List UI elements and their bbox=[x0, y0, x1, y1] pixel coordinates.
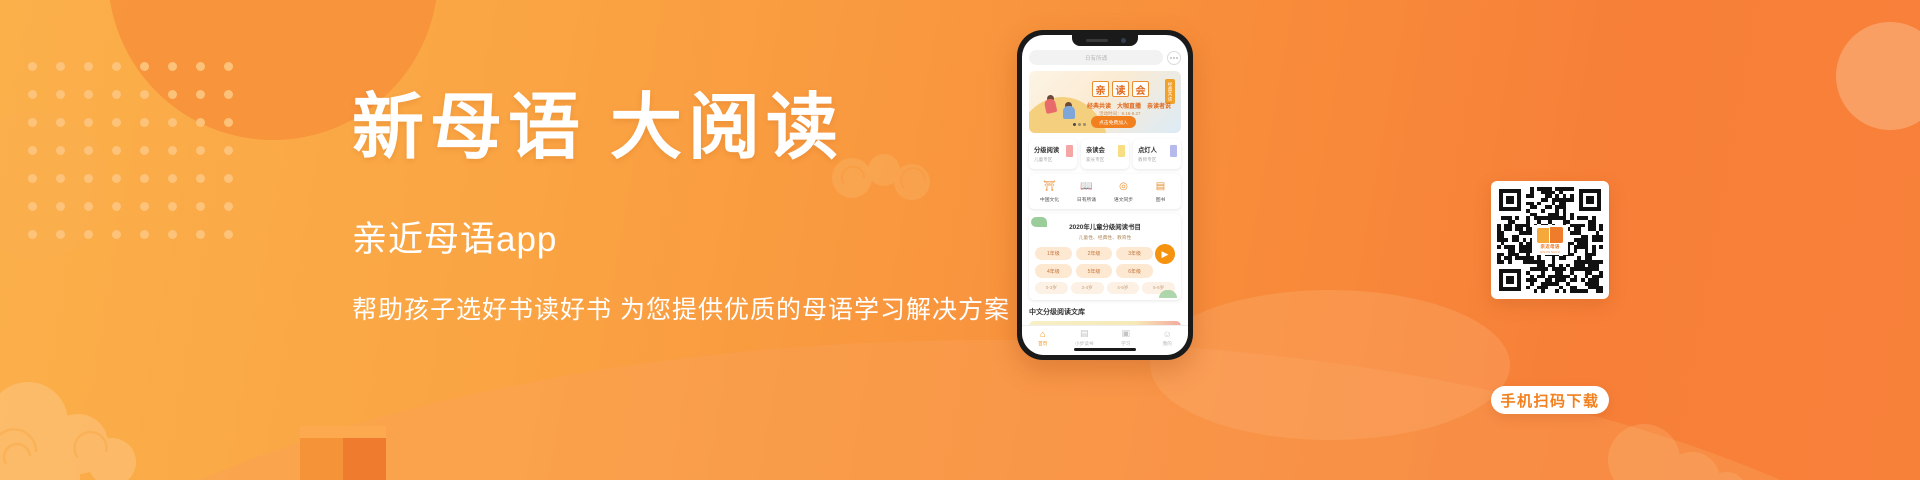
quick-icon-label: 中国文化 bbox=[1040, 196, 1059, 203]
leaf-decoration-icon bbox=[1159, 290, 1177, 298]
phone-quick-icons: ⛩ 中国文化 📖 日有所诵 ◎ 语文同步 ▤ 图书 bbox=[1029, 174, 1181, 209]
logo-title: 亲近母语 bbox=[1540, 244, 1559, 250]
grade-chip[interactable]: 3年级 bbox=[1116, 247, 1153, 260]
phone-search-row: 日有所诵 bbox=[1029, 50, 1181, 65]
qr-finder-bottom-left bbox=[1497, 267, 1523, 293]
phone-notch bbox=[1072, 35, 1138, 46]
category-sub: 教师专区 bbox=[1138, 157, 1176, 163]
promo-banner: 新母语 大阅读 亲近母语app 帮助孩子选好书读好书 为您提供优质的母语学习解决… bbox=[0, 0, 1920, 480]
hero-kid-2 bbox=[1063, 106, 1075, 119]
phone-search-input[interactable]: 日有所诵 bbox=[1029, 50, 1163, 65]
study-icon: ▣ bbox=[1121, 328, 1130, 339]
age-chip[interactable]: 0-3岁 bbox=[1035, 282, 1068, 294]
age-chip-list: 0-3岁 3-4岁 4-5岁 5-6岁 bbox=[1035, 282, 1175, 294]
more-dots-icon[interactable] bbox=[1167, 51, 1181, 65]
phone-category-cards: 分级阅读 儿童专区 亲读会 家长专区 点灯人 教师专区 bbox=[1029, 139, 1181, 169]
hero-cta-button[interactable]: 点击免费加入 bbox=[1091, 116, 1136, 128]
category-card[interactable]: 亲读会 家长专区 bbox=[1081, 139, 1129, 169]
tab-label: 学习 bbox=[1121, 341, 1130, 347]
home-icon: ⌂ bbox=[1040, 329, 1045, 339]
booklist-subtitle: 儿童性、经典性、教育性 bbox=[1035, 234, 1175, 241]
grade-chip[interactable]: 1年级 bbox=[1035, 247, 1072, 260]
cloud-icon-bottom-right bbox=[1600, 400, 1770, 480]
grade-chip-list: 1年级 2年级 3年级 4年级 5年级 6年级 bbox=[1035, 247, 1175, 278]
profile-icon: ☺ bbox=[1163, 329, 1172, 339]
bookmark-icon bbox=[1170, 145, 1177, 157]
quick-icon-label: 图书 bbox=[1156, 196, 1166, 203]
leaf-decoration-icon bbox=[1031, 217, 1047, 227]
book-logo-icon bbox=[1537, 227, 1563, 243]
booklist-title: 2020年儿童分级阅读书目 bbox=[1035, 222, 1175, 231]
decorative-circle-top-right bbox=[1836, 22, 1920, 130]
reading-icon: ▤ bbox=[1080, 328, 1089, 339]
phone-speaker bbox=[1086, 39, 1108, 42]
tab-home[interactable]: ⌂ 首页 bbox=[1022, 329, 1064, 347]
qr-finder-top-left bbox=[1497, 187, 1523, 213]
phone-mockup: 日有所诵 亲 读 会 经典共读 经典共读 bbox=[1017, 30, 1193, 360]
phone-camera-icon bbox=[1121, 38, 1126, 43]
qr-code-image: 亲近母语 QINJIN MUYU bbox=[1497, 187, 1603, 293]
hero-subtitle-item: 大咖直播 bbox=[1117, 101, 1141, 110]
recite-icon: 📖 bbox=[1080, 180, 1093, 193]
section-title: 中文分级阅读文库 bbox=[1029, 307, 1181, 317]
bookmark-icon bbox=[1118, 145, 1125, 157]
hero-title-char: 会 bbox=[1132, 81, 1149, 97]
phone-content: 日有所诵 亲 读 会 经典共读 经典共读 bbox=[1022, 35, 1188, 339]
tab-label: 小步读书 bbox=[1075, 341, 1093, 347]
phone-hero-banner[interactable]: 亲 读 会 经典共读 经典共读 大咖直播 亲读者说 活动时间：9.16-9.27… bbox=[1029, 71, 1181, 133]
grade-chip[interactable]: 4年级 bbox=[1035, 264, 1072, 277]
phone-home-indicator bbox=[1074, 348, 1136, 351]
quick-icon-sync[interactable]: ◎ 语文同步 bbox=[1105, 180, 1142, 203]
quick-icon-book[interactable]: ▤ 图书 bbox=[1142, 180, 1179, 203]
dot-grid-pattern bbox=[28, 62, 252, 258]
category-card[interactable]: 点灯人 教师专区 bbox=[1133, 139, 1181, 169]
tab-profile[interactable]: ☺ 我的 bbox=[1147, 329, 1189, 347]
carousel-dots[interactable] bbox=[1073, 123, 1086, 126]
quick-icon-label: 日有所诵 bbox=[1077, 196, 1096, 203]
logo-subtitle: QINJIN MUYU bbox=[1540, 251, 1560, 254]
video-play-icon[interactable]: ▶ bbox=[1155, 244, 1175, 264]
app-name: 亲近母语app bbox=[352, 211, 1072, 262]
grade-chip[interactable]: 5年级 bbox=[1076, 264, 1113, 277]
hero-title-char: 读 bbox=[1112, 81, 1129, 97]
decorative-circle-mid-left bbox=[0, 110, 110, 260]
hero-title-char: 亲 bbox=[1092, 81, 1109, 97]
category-sub: 儿童专区 bbox=[1034, 157, 1072, 163]
hero-subtitle: 经典共读 大咖直播 亲读者说 bbox=[1087, 101, 1171, 110]
age-chip[interactable]: 4-5岁 bbox=[1107, 282, 1140, 294]
tagline: 帮助孩子选好书读好书 为您提供优质的母语学习解决方案 bbox=[352, 290, 1072, 326]
category-sub: 家长专区 bbox=[1086, 157, 1124, 163]
category-card[interactable]: 分级阅读 儿童专区 bbox=[1029, 139, 1077, 169]
culture-icon: ⛩ bbox=[1043, 180, 1056, 193]
hero-subtitle-item: 经典共读 bbox=[1087, 101, 1111, 110]
qr-finder-top-right bbox=[1577, 187, 1603, 213]
grade-chip[interactable]: 2年级 bbox=[1076, 247, 1113, 260]
phone-booklist-module: 2020年儿童分级阅读书目 儿童性、经典性、教育性 1年级 2年级 3年级 4年… bbox=[1029, 214, 1181, 300]
tab-label: 我的 bbox=[1163, 341, 1172, 347]
page-title: 新母语 大阅读 bbox=[352, 88, 1072, 169]
age-chip[interactable]: 3-4岁 bbox=[1071, 282, 1104, 294]
hero-subtitle-item: 亲读者说 bbox=[1147, 101, 1171, 110]
tab-reading[interactable]: ▤ 小步读书 bbox=[1064, 328, 1106, 347]
tab-label: 首页 bbox=[1038, 341, 1047, 347]
download-button[interactable]: 手机扫码下载 bbox=[1491, 386, 1609, 414]
decorative-cube bbox=[300, 426, 386, 480]
sync-icon: ◎ bbox=[1117, 180, 1130, 193]
quick-icon-recite[interactable]: 📖 日有所诵 bbox=[1068, 180, 1105, 203]
book-icon: ▤ bbox=[1154, 180, 1167, 193]
qr-code-card: 亲近母语 QINJIN MUYU bbox=[1491, 181, 1609, 299]
decorative-arc-bottom bbox=[0, 340, 1920, 480]
tab-study[interactable]: ▣ 学习 bbox=[1105, 328, 1147, 347]
bookmark-icon bbox=[1066, 145, 1073, 157]
quick-icon-culture[interactable]: ⛩ 中国文化 bbox=[1031, 180, 1068, 203]
grade-chip[interactable]: 6年级 bbox=[1116, 264, 1153, 277]
hero-title: 亲 读 会 bbox=[1092, 81, 1149, 97]
decorative-glow-behind-phone bbox=[1150, 290, 1510, 440]
cloud-icon-bottom-left bbox=[0, 366, 172, 480]
quick-icon-label: 语文同步 bbox=[1114, 196, 1133, 203]
brand-logo: 亲近母语 QINJIN MUYU bbox=[1532, 225, 1568, 255]
phone-screen: 日有所诵 亲 读 会 经典共读 经典共读 bbox=[1022, 35, 1188, 355]
copy-block: 新母语 大阅读 亲近母语app 帮助孩子选好书读好书 为您提供优质的母语学习解决… bbox=[352, 88, 1072, 326]
